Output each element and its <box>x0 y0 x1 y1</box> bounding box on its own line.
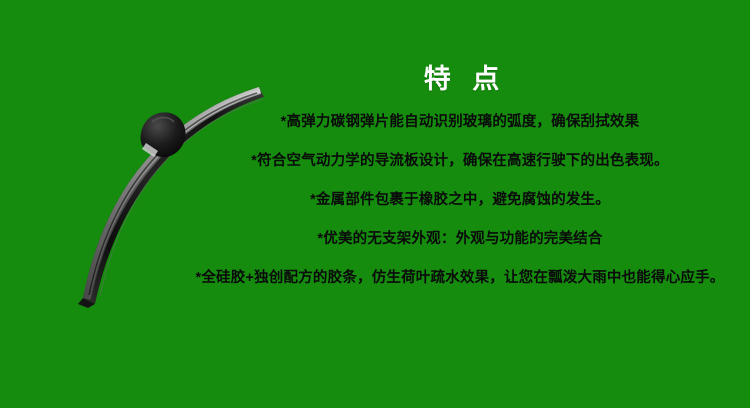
product-feature-banner: 特 点 *高弹力碳钢弹片能自动识别玻璃的弧度，确保刮拭效果 *符合空气动力学的导… <box>0 0 750 408</box>
feature-item-text: 金属部件包裹于橡胶之中，避免腐蚀的发生。 <box>316 192 610 208</box>
feature-item: *优美的无支架外观：外观与功能的完美结合 <box>180 231 740 247</box>
feature-item: *高弹力碳钢弹片能自动识别玻璃的弧度，确保刮拭效果 <box>180 114 740 130</box>
feature-list: *高弹力碳钢弹片能自动识别玻璃的弧度，确保刮拭效果 *符合空气动力学的导流板设计… <box>180 114 740 286</box>
feature-item: *金属部件包裹于橡胶之中，避免腐蚀的发生。 <box>180 192 740 208</box>
feature-item-text: 优美的无支架外观：外观与功能的完美结合 <box>323 231 602 247</box>
blade-adapter-clip <box>141 112 186 157</box>
feature-item: *全硅胶+独创配方的胶条，仿生荷叶疏水效果，让您在瓢泼大雨中也能得心应手。 <box>180 270 740 286</box>
feature-item-text: 高弹力碳钢弹片能自动识别玻璃的弧度，确保刮拭效果 <box>287 114 640 130</box>
feature-item-text: 全硅胶+独创配方的胶条，仿生荷叶疏水效果，让您在瓢泼大雨中也能得心应手。 <box>201 270 724 286</box>
feature-panel: 特 点 *高弹力碳钢弹片能自动识别玻璃的弧度，确保刮拭效果 *符合空气动力学的导… <box>180 62 740 312</box>
feature-item: *符合空气动力学的导流板设计，确保在高速行驶下的出色表现。 <box>180 153 740 169</box>
feature-title: 特 点 <box>180 62 740 96</box>
feature-item-text: 符合空气动力学的导流板设计，确保在高速行驶下的出色表现。 <box>257 153 669 169</box>
